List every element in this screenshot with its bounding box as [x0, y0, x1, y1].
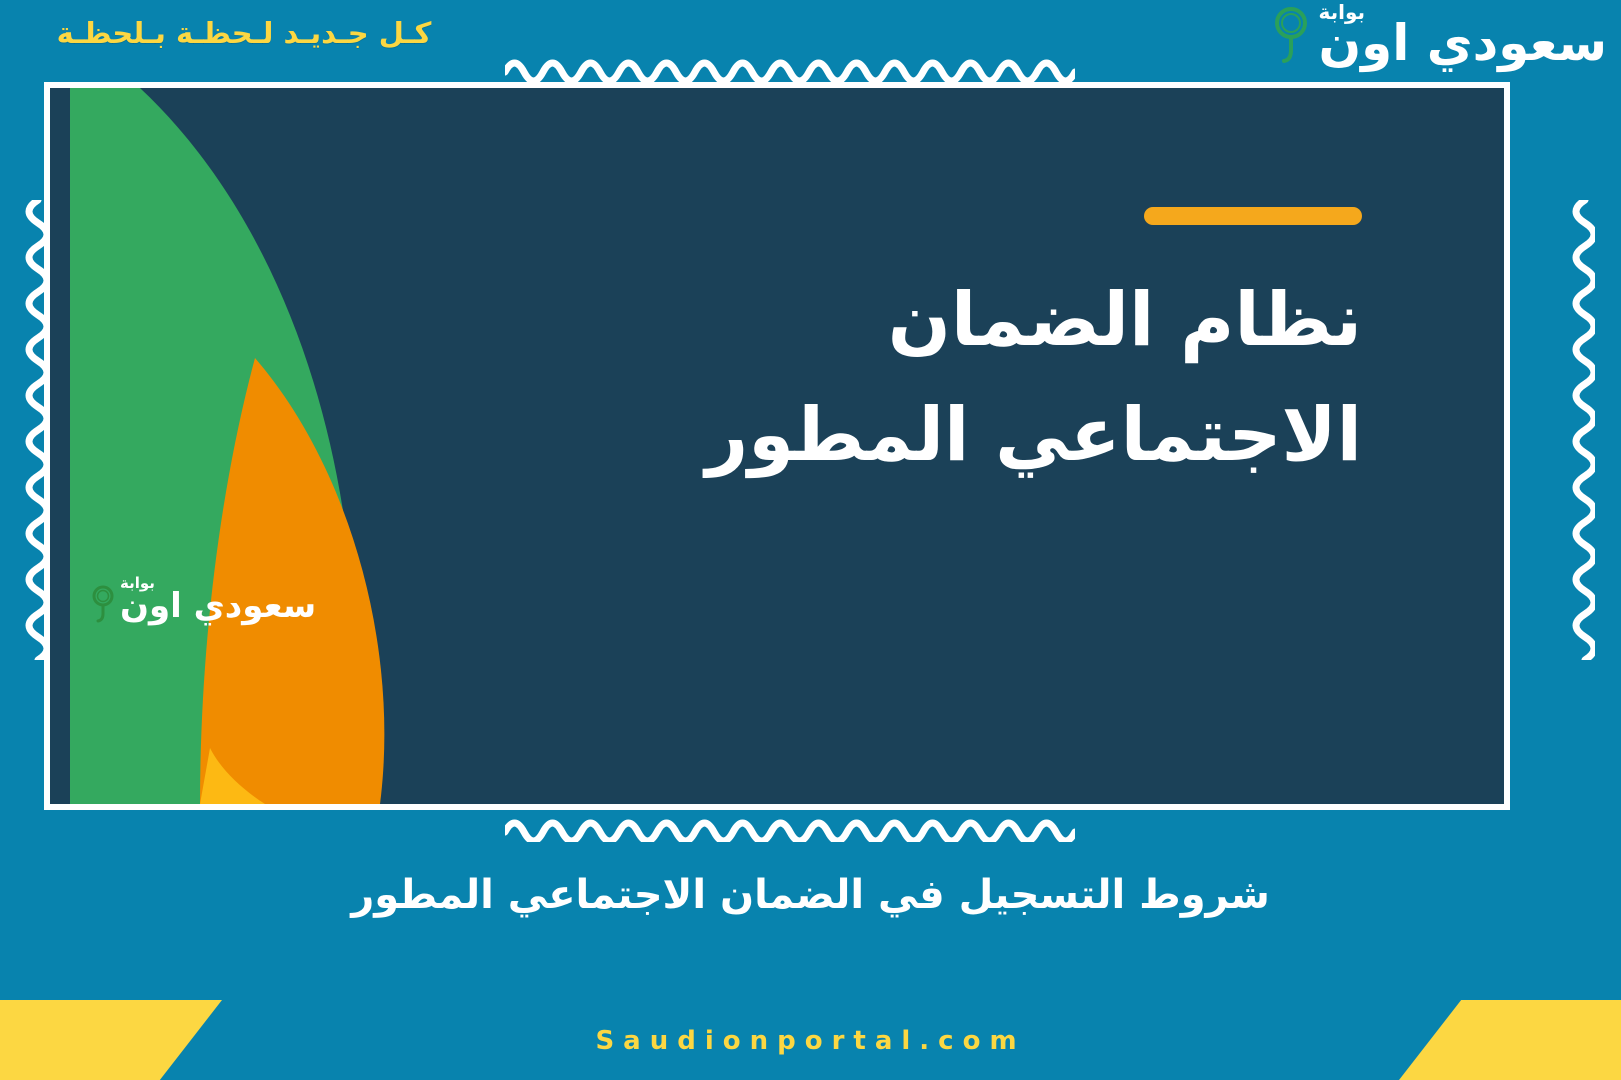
panel-headline: نظام الضمان الاجتماعي المطور [602, 263, 1362, 492]
bottom-caption: شروط التسجيل في الضمان الاجتماعي المطور [0, 872, 1621, 918]
brand-name: سعودي اون [1318, 18, 1607, 68]
brand-logo[interactable]: بوابة سعودي اون [1270, 2, 1607, 68]
zigzag-wave-top-icon [505, 52, 1075, 82]
headline-line-2: الاجتماعي المطور [602, 378, 1362, 493]
watermark-wordmark: بوابة سعودي اون [120, 576, 316, 623]
headline-line-1: نظام الضمان [602, 263, 1362, 378]
hero-panel: بوابة سعودي اون نظام الضمان الاجتماعي ال… [50, 88, 1504, 804]
footer-website-url[interactable]: Saudionportal.com [0, 1026, 1621, 1056]
zigzag-wave-right-icon [1565, 200, 1595, 660]
brand-wordmark: بوابة سعودي اون [1318, 2, 1607, 68]
watermark-name: سعودي اون [120, 589, 316, 623]
zigzag-wave-bottom-icon [505, 812, 1075, 842]
tagline-text: كـل جـديـد لـحظـة بـلحظـة [24, 16, 464, 50]
watermark-magnifier-icon [90, 583, 116, 623]
poster-canvas: كـل جـديـد لـحظـة بـلحظـة بوابة سعودي او… [0, 0, 1621, 1080]
hero-panel-frame: بوابة سعودي اون نظام الضمان الاجتماعي ال… [44, 82, 1510, 810]
magnifier-icon [1270, 4, 1312, 64]
headline-accent-bar [1144, 207, 1362, 225]
panel-watermark-logo: بوابة سعودي اون [90, 576, 316, 623]
petal-artwork [50, 88, 450, 804]
